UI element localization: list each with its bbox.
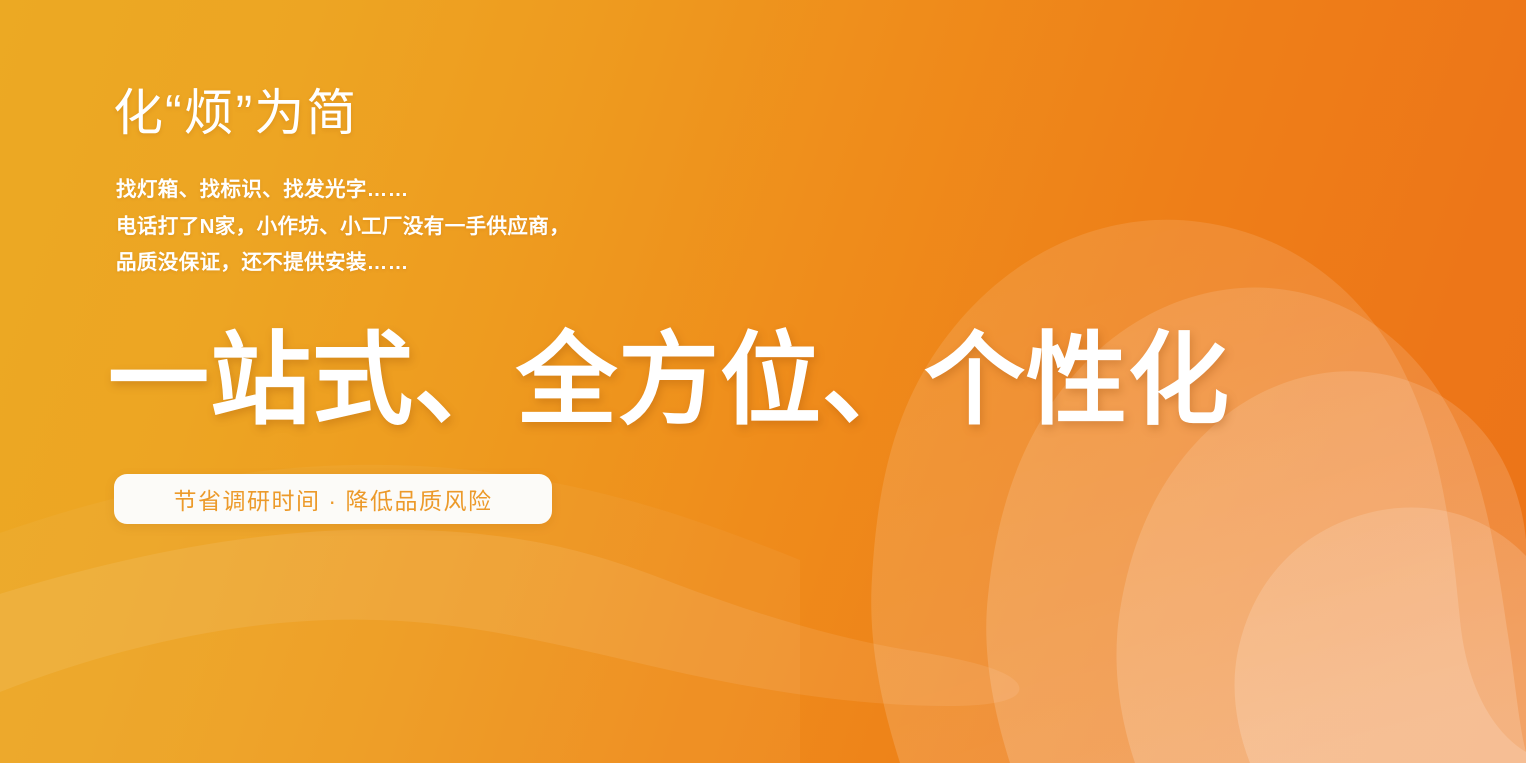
promo-banner: 化“烦”为简 找灯箱、找标识、找发光字…… 电话打了N家，小作坊、小工厂没有一手… [0, 0, 1526, 763]
subtitle-line: 电话打了N家，小作坊、小工厂没有一手供应商， [116, 209, 570, 246]
headline: 一站式、全方位、个性化 [108, 326, 1230, 437]
subtitle-list: 找灯箱、找标识、找发光字…… 电话打了N家，小作坊、小工厂没有一手供应商， 品质… [116, 172, 570, 282]
subtitle-line: 找灯箱、找标识、找发光字…… [116, 172, 570, 209]
eyebrow-title: 化“烦”为简 [113, 84, 358, 143]
subtitle-line: 品质没保证，还不提供安装…… [116, 245, 570, 282]
tagline-text: 节省调研时间 · 降低品质风险 [174, 482, 493, 516]
tagline-pill: 节省调研时间 · 降低品质风险 [114, 474, 552, 524]
banner-content: 化“烦”为简 找灯箱、找标识、找发光字…… 电话打了N家，小作坊、小工厂没有一手… [0, 0, 1526, 763]
